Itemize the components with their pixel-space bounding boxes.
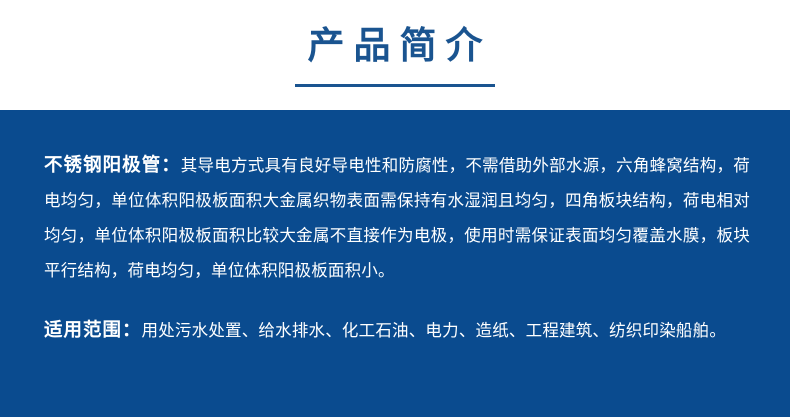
paragraph-application-scope: 适用范围：用处污水处置、给水排水、化工石油、电力、造纸、工程建筑、纺织印染船舶。 xyxy=(44,312,750,349)
banner-header: 产品简介 xyxy=(0,0,790,110)
paragraph-label-product: 不锈钢阳极管： xyxy=(44,154,181,175)
paragraph-label-scope: 适用范围： xyxy=(44,319,142,340)
page-title: 产品简介 xyxy=(0,23,790,69)
paragraph-product-description: 不锈钢阳极管：其导电方式具有良好导电性和防腐性，不需借助外部水源，六角蜂窝结构，… xyxy=(44,147,750,289)
product-intro-banner: 产品简介 不锈钢阳极管：其导电方式具有良好导电性和防腐性，不需借助外部水源，六角… xyxy=(0,0,790,417)
paragraph-body-product: 其导电方式具有良好导电性和防腐性，不需借助外部水源，六角蜂窝结构，荷电均匀，单位… xyxy=(44,157,750,280)
description-panel: 不锈钢阳极管：其导电方式具有良好导电性和防腐性，不需借助外部水源，六角蜂窝结构，… xyxy=(0,110,790,417)
title-underline-divider xyxy=(295,84,495,87)
paragraph-body-scope: 用处污水处置、给水排水、化工石油、电力、造纸、工程建筑、纺织印染船舶。 xyxy=(142,322,727,340)
